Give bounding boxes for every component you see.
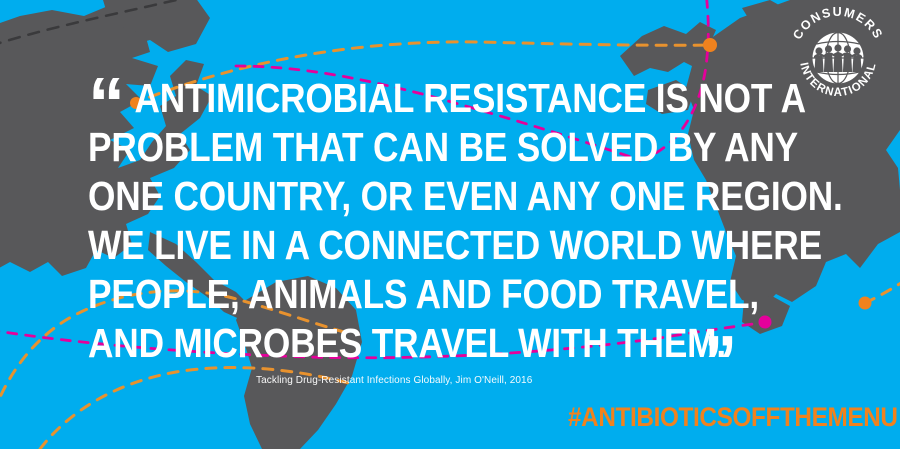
logo-person-2 <box>824 45 833 72</box>
logo-person-4 <box>843 45 852 72</box>
quote-block: “ ANTIMICROBIAL RESISTANCE IS NOT A PROB… <box>88 74 788 368</box>
quote-line-1: ANTIMICROBIAL RESISTANCE IS NOT A <box>88 74 690 123</box>
logo-person-5 <box>852 47 861 72</box>
quote-line-2: PROBLEM THAT CAN BE SOLVED BY ANY <box>88 123 690 172</box>
consumers-international-logo: CONSUMERS INTERNATIONAL <box>786 6 890 110</box>
quote-attribution: Tackling Drug-Resistant Infections Globa… <box>256 375 532 386</box>
quote-line-3: ONE COUNTRY, OR EVEN ANY ONE REGION. <box>88 172 690 221</box>
poster-canvas: “ ANTIMICROBIAL RESISTANCE IS NOT A PROB… <box>0 0 900 449</box>
logo-person-1 <box>814 47 823 72</box>
quote-line-4: WE LIVE IN A CONNECTED WORLD WHERE <box>88 221 690 270</box>
quote-line-6: AND MICROBES TRAVEL WITH THEM. <box>88 319 690 368</box>
logo-people-figures <box>814 44 862 72</box>
quote-line-5: PEOPLE, ANIMALS AND FOOD TRAVEL, <box>88 270 690 319</box>
endpoint-dot-orange-atlantic <box>703 38 717 52</box>
campaign-hashtag: #ANTIBIOTICSOFFTHEMENU <box>568 402 898 432</box>
logo-person-3 <box>833 44 842 72</box>
endpoint-dot-orange-indian-ocean <box>859 297 872 310</box>
